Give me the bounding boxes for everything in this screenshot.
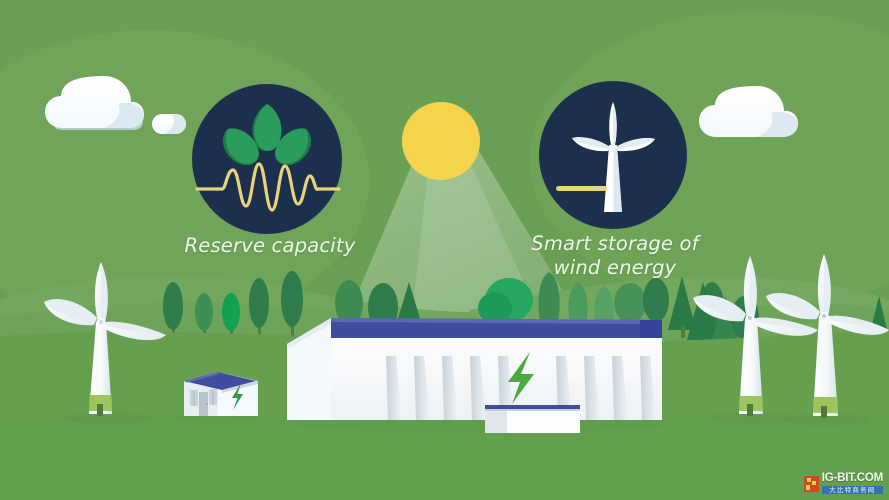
small-house: [178, 372, 258, 423]
ig-bit-watermark: IG-BIT.COM 大比特商务网: [804, 473, 883, 494]
buildings-layer: [0, 0, 889, 500]
watermark-subtitle: 大比特商务网: [822, 486, 883, 495]
watermark-logo-icon: [804, 476, 819, 492]
caption-smart-storage: Smart storage of wind energy: [500, 232, 730, 280]
energy-storage-warehouse: [280, 318, 680, 433]
caption-reserve-capacity: Reserve capacity: [165, 234, 375, 258]
illustration-scene: Reserve capacity Smart storage of wind e…: [0, 0, 889, 500]
watermark-domain: IG-BIT.COM: [822, 473, 883, 485]
